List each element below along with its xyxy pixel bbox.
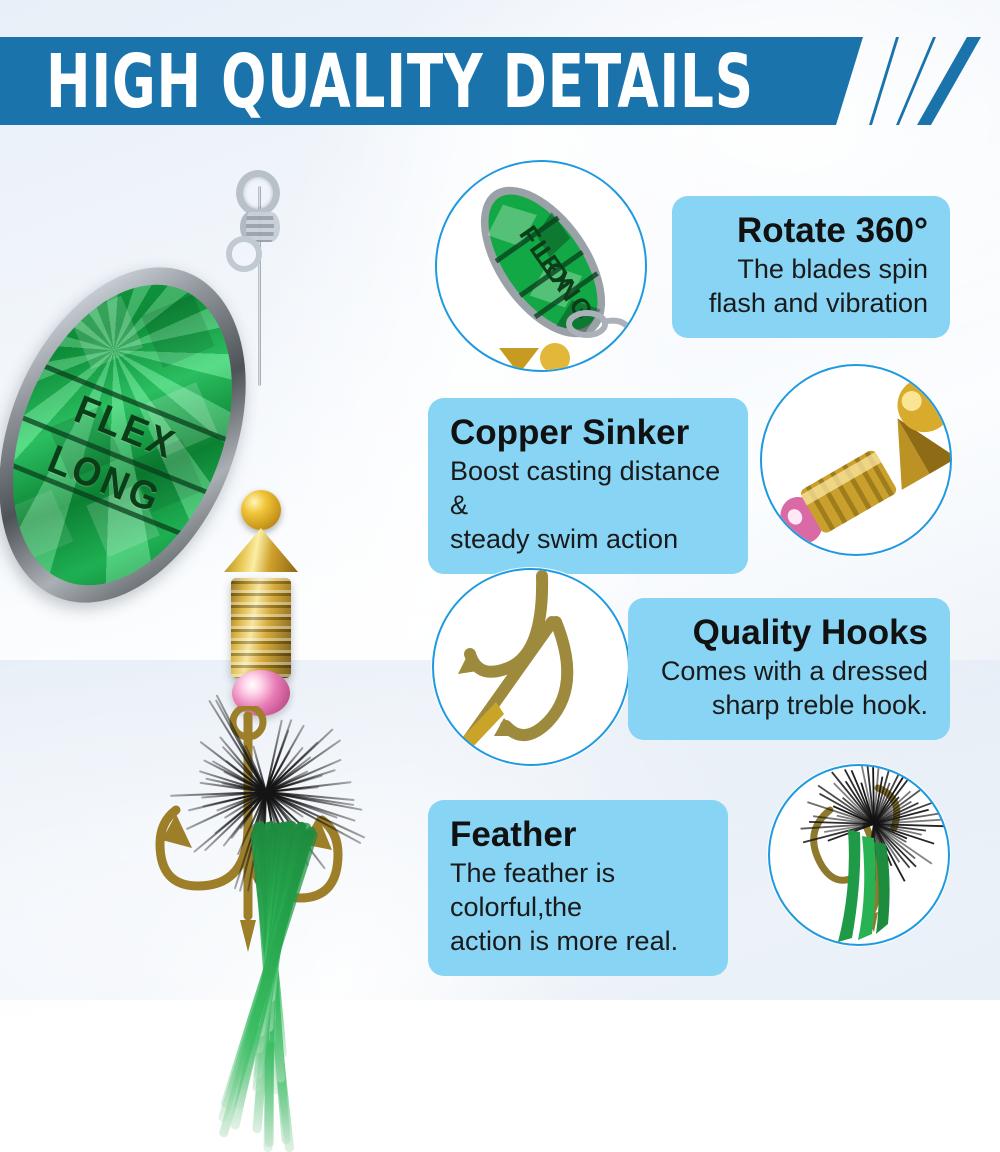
- feature-body-line2-feather: action is more real.: [450, 924, 706, 958]
- feature-body-line2-copper-sinker: steady swim action: [450, 522, 726, 556]
- panel-copper-sinker: Copper Sinker Boost casting distance & s…: [428, 398, 748, 574]
- feature-title-rotate-360: Rotate 360°: [694, 210, 928, 252]
- copper-sinker-body: [231, 578, 291, 678]
- feature-body-line1-quality-hooks: Comes with a dressed: [650, 654, 928, 688]
- copper-sinker-photo: [760, 364, 952, 556]
- blade-facet: [141, 294, 214, 367]
- feather-thumb-art: [770, 766, 950, 946]
- copper-sinker-thumb-art: [762, 366, 952, 556]
- feather-dressing: [120, 730, 420, 1130]
- banner-slash-3: [917, 37, 981, 125]
- feather-dressing-photo: [768, 764, 950, 946]
- feature-body-line1-feather: The feather is colorful,the: [450, 856, 706, 924]
- feature-title-quality-hooks: Quality Hooks: [650, 612, 928, 654]
- clevis-ring: [226, 236, 262, 272]
- panel-quality-hooks: Quality Hooks Comes with a dressed sharp…: [628, 598, 950, 740]
- spinner-blade-photo: FLEX LONG: [435, 160, 647, 372]
- split-ring-loop-icon: [236, 170, 280, 216]
- feature-body-line1-rotate-360: The blades spin: [694, 252, 928, 286]
- page-title: HIGH QUALITY DETAILS: [46, 41, 754, 123]
- feature-title-feather: Feather: [450, 814, 706, 856]
- hero-product-image: FLEX LONG: [0, 150, 430, 990]
- brass-cone: [224, 528, 298, 572]
- treble-hook-thumb-art: [434, 570, 630, 766]
- gold-bead: [241, 490, 281, 530]
- spinner-blade-thumb-art: FLEX LONG: [437, 162, 647, 372]
- feature-body-line2-rotate-360: flash and vibration: [694, 286, 928, 320]
- feature-body-line2-quality-hooks: sharp treble hook.: [650, 688, 928, 722]
- treble-hook-photo: [432, 568, 630, 766]
- panel-rotate-360: Rotate 360° The blades spin flash and vi…: [672, 196, 950, 338]
- feature-body-line1-copper-sinker: Boost casting distance &: [450, 454, 726, 522]
- header-banner: HIGH QUALITY DETAILS: [0, 37, 1000, 127]
- banner-slash-1: [869, 37, 899, 125]
- feature-title-copper-sinker: Copper Sinker: [450, 412, 726, 454]
- panel-feather: Feather The feather is colorful,the acti…: [428, 800, 728, 976]
